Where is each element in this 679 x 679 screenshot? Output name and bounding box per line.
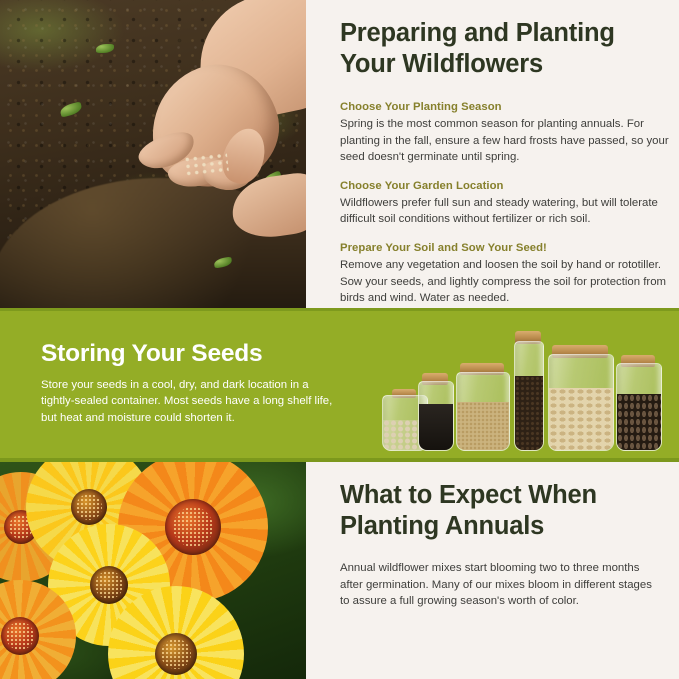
jar-glass [548,354,614,451]
body-planting-season: Spring is the most common season for pla… [340,116,670,166]
page-title: Preparing and Planting Your Wildflowers [340,18,670,80]
wildflower-photo [0,462,306,679]
section-what-to-expect: What to Expect When Planting Annuals Ann… [0,462,679,679]
section-storing-your-seeds: Storing Your Seeds Store your seeds in a… [0,308,679,462]
block-garden-location: Choose Your Garden Location Wildflowers … [340,178,670,228]
seed-jar [456,363,508,451]
subheading-planting-season: Choose Your Planting Season [340,99,670,115]
soil-planting-photo [0,0,306,308]
expectation-title: What to Expect When Planting Annuals [340,480,660,542]
flower-center [1,617,39,655]
green-top-divider [0,308,679,311]
subheading-prepare-soil: Prepare Your Soil and Sow Your Seed! [340,240,670,256]
storing-body: Store your seeds in a cool, dry, and dar… [41,377,341,426]
jar-contents [515,376,543,450]
jar-contents [617,394,661,450]
expectation-body: Annual wildflower mixes start blooming t… [340,560,660,610]
block-planting-season: Choose Your Planting Season Spring is th… [340,99,670,166]
jar-contents [419,404,453,450]
flower-center [71,489,107,525]
body-prepare-soil: Remove any vegetation and loosen the soi… [340,257,670,307]
jar-glass [514,341,544,451]
seeds-in-hand [183,152,229,178]
storing-title: Storing Your Seeds [41,340,341,368]
flower-center [165,499,221,555]
expectation-text-column: What to Expect When Planting Annuals Ann… [340,480,660,610]
block-prepare-soil: Prepare Your Soil and Sow Your Seed! Rem… [340,240,670,307]
infographic-root: Preparing and Planting Your Wildflowers … [0,0,679,679]
subheading-garden-location: Choose Your Garden Location [340,178,670,194]
seed-jar [514,331,542,451]
flower-center [90,566,128,604]
preparing-text-column: Preparing and Planting Your Wildflowers … [340,0,670,308]
jar-contents [457,402,509,450]
flower-center [155,633,197,675]
jar-glass [418,381,454,451]
section-preparing-and-planting: Preparing and Planting Your Wildflowers … [0,0,679,308]
seed-jar [616,355,660,451]
jar-contents [549,388,613,450]
seed-jar [548,345,612,451]
storing-text-column: Storing Your Seeds Store your seeds in a… [41,340,341,426]
seed-jars-photo [372,322,672,457]
body-garden-location: Wildflowers prefer full sun and steady w… [340,195,670,228]
jar-glass [616,363,662,451]
seed-jar [418,373,452,451]
jar-glass [456,372,510,451]
